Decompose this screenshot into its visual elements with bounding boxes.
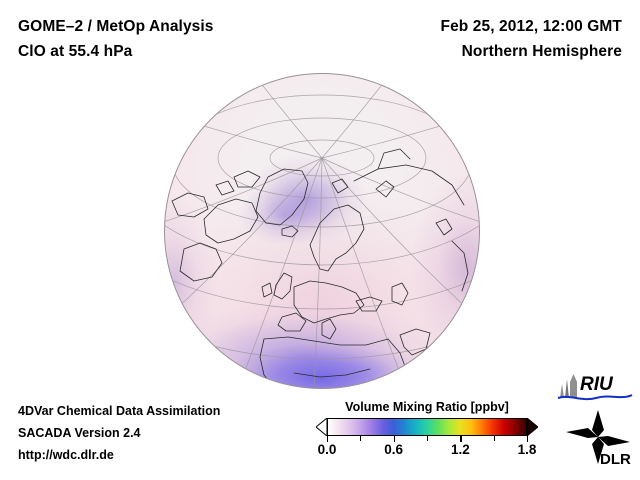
dlr-logo: DLR [562,408,636,470]
riu-logo-text: RIU [580,374,614,395]
page-title: GOME–2 / MetOp Analysis [18,14,214,39]
colorbar-tick-label: 0.0 [318,442,337,457]
colorbar-row [316,418,538,436]
colorbar-over-arrow-icon [527,418,538,436]
header-right-block: Feb 25, 2012, 12:00 GMT Northern Hemisph… [441,14,623,64]
globe-disc [164,73,480,389]
colorbar: Volume Mixing Ratio [ppbv] 0.00.61.21.8 [316,400,538,460]
species-level-subtitle: ClO at 55.4 hPa [18,39,214,64]
footer-left-block: 4DVar Chemical Data Assimilation SACADA … [18,400,220,466]
colorbar-tick-label: 1.8 [518,442,537,457]
colorbar-minor-tick [427,436,428,441]
colorbar-tick-label: 0.6 [384,442,403,457]
version-label: SACADA Version 2.4 [18,422,220,444]
header-left-block: GOME–2 / MetOp Analysis ClO at 55.4 hPa [18,14,214,64]
colorbar-gradient [327,418,527,436]
riu-logo: RIU [556,368,634,402]
colorbar-tick-labels: 0.00.61.21.8 [327,442,527,460]
colorbar-title: Volume Mixing Ratio [ppbv] [316,400,538,414]
colorbar-under-arrow-icon [316,418,327,436]
timestamp-label: Feb 25, 2012, 12:00 GMT [441,14,623,39]
globe-map [164,73,480,389]
hemisphere-label: Northern Hemisphere [441,39,623,64]
website-url[interactable]: http://wdc.dlr.de [18,444,220,466]
method-label: 4DVar Chemical Data Assimilation [18,400,220,422]
colorbar-tick-label: 1.2 [451,442,470,457]
colorbar-minor-tick [494,436,495,441]
dlr-logo-text: DLR [600,451,631,468]
colorbar-minor-tick [360,436,361,441]
